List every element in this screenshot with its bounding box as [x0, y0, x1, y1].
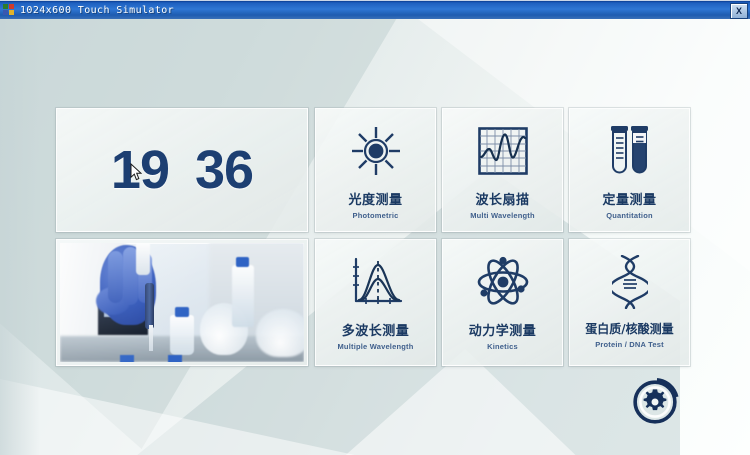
tile-label-en: Quantitation — [606, 211, 653, 220]
tile-label-cn: 多波长测量 — [342, 320, 410, 339]
clock-minutes: 36 — [195, 139, 253, 201]
windows-logo-icon — [3, 4, 16, 17]
tile-protein-dna[interactable]: 蛋白质/核酸测量 Protein / DNA Test — [569, 239, 690, 366]
tile-label-en: Multi Wavelength — [470, 211, 535, 220]
tile-kinetics[interactable]: 动力学测量 Kinetics — [442, 239, 563, 366]
tile-label-en: Photometric — [353, 211, 399, 220]
tile-label-cn: 波长扇描 — [475, 189, 529, 208]
spectrum-grid-icon — [478, 124, 528, 178]
lab-pipette-photo — [60, 243, 304, 362]
lab-photo-tile[interactable] — [56, 239, 308, 366]
tile-multiple-wavelength[interactable]: 多波长测量 Multiple Wavelength — [315, 239, 436, 366]
sun-light-icon — [350, 124, 402, 178]
peak-curves-icon — [349, 255, 403, 309]
tile-label-cn: 光度测量 — [348, 189, 402, 208]
close-icon[interactable]: X — [730, 3, 748, 19]
tile-label-cn: 动力学测量 — [469, 320, 537, 339]
test-tubes-icon — [607, 124, 653, 178]
tile-label-en: Kinetics — [487, 342, 518, 351]
tile-label-cn: 定量测量 — [602, 189, 656, 208]
window-titlebar[interactable]: 1024x600 Touch Simulator X — [0, 0, 750, 19]
home-tile-grid: 19 36 — [56, 108, 688, 366]
tile-multi-wavelength[interactable]: 波长扇描 Multi Wavelength — [442, 108, 563, 232]
window-title: 1024x600 Touch Simulator — [20, 5, 174, 16]
clock-display: 19 36 — [57, 109, 307, 231]
touch-simulator-screen: 19 36 — [0, 19, 750, 455]
gear-in-reticle-icon — [630, 377, 680, 427]
tile-photometric[interactable]: 光度测量 Photometric — [315, 108, 436, 232]
clock-tile[interactable]: 19 36 — [56, 108, 308, 232]
simulator-window: 1024x600 Touch Simulator 1024x600 Touch … — [0, 0, 750, 455]
tile-label-en: Protein / DNA Test — [595, 340, 664, 349]
tile-label-en: Multiple Wavelength — [337, 342, 413, 351]
tile-label-cn: 蛋白质/核酸测量 — [585, 320, 673, 337]
settings-button[interactable] — [630, 377, 680, 427]
background-facet — [0, 19, 40, 455]
clock-hours: 19 — [111, 139, 169, 201]
dna-helix-icon — [612, 255, 648, 309]
atom-icon — [476, 255, 530, 309]
tile-quantitation[interactable]: 定量测量 Quantitation — [569, 108, 690, 232]
